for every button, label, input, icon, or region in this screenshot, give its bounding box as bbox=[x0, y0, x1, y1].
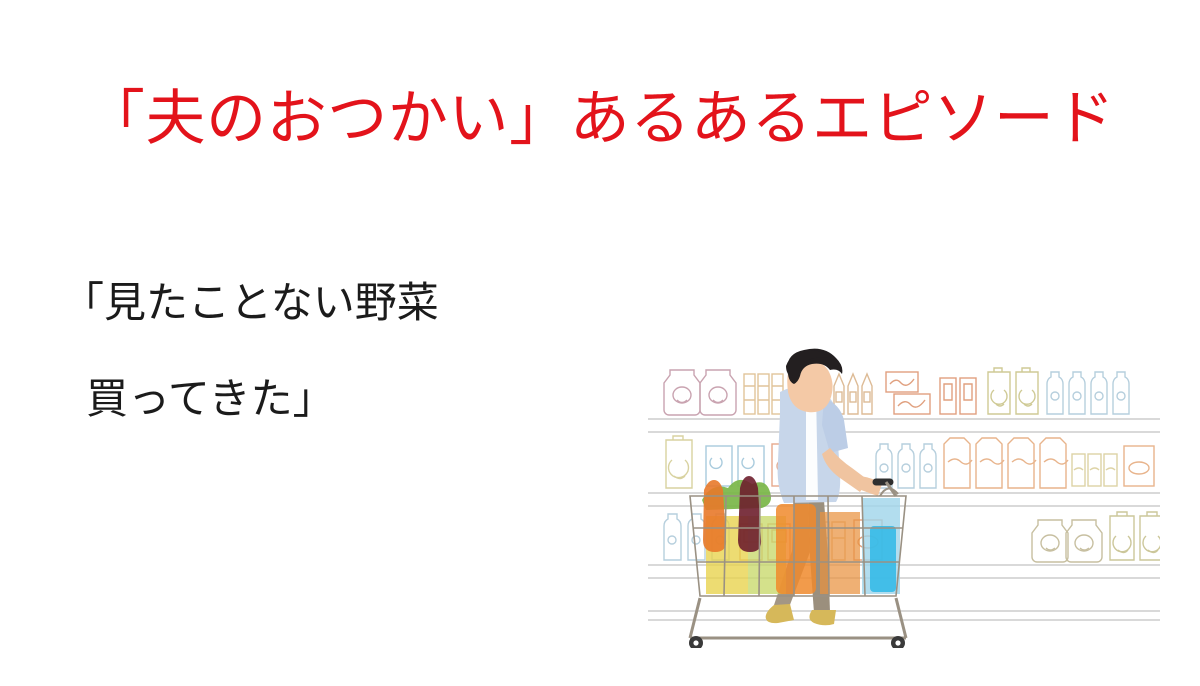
man-back-shoe bbox=[766, 604, 794, 623]
presentation-slide: 「夫のおつかい」あるあるエピソード 「見たことない野菜 買ってきた」 bbox=[0, 0, 1200, 686]
page-title: 「夫のおつかい」あるあるエピソード bbox=[0, 84, 1200, 153]
quote-text-block: 「見たことない野菜 買ってきた」 bbox=[62, 282, 582, 420]
quote-line-2: 買ってきた」 bbox=[62, 378, 582, 420]
shelf-row-1-products bbox=[664, 368, 1129, 415]
orange-bag bbox=[820, 512, 860, 594]
illustration-canvas bbox=[648, 348, 1160, 648]
orange-bottle bbox=[703, 480, 726, 552]
cart-wheel-hub-right bbox=[895, 640, 900, 645]
blue-bottle bbox=[870, 526, 896, 592]
man-front-shoe bbox=[809, 610, 836, 625]
wine-bottle bbox=[738, 476, 761, 552]
quote-line-1: 「見たことない野菜 bbox=[62, 282, 582, 324]
supermarket-illustration bbox=[648, 348, 1160, 648]
orange-produce bbox=[776, 504, 816, 594]
cart-wheel-hub-left bbox=[693, 640, 698, 645]
